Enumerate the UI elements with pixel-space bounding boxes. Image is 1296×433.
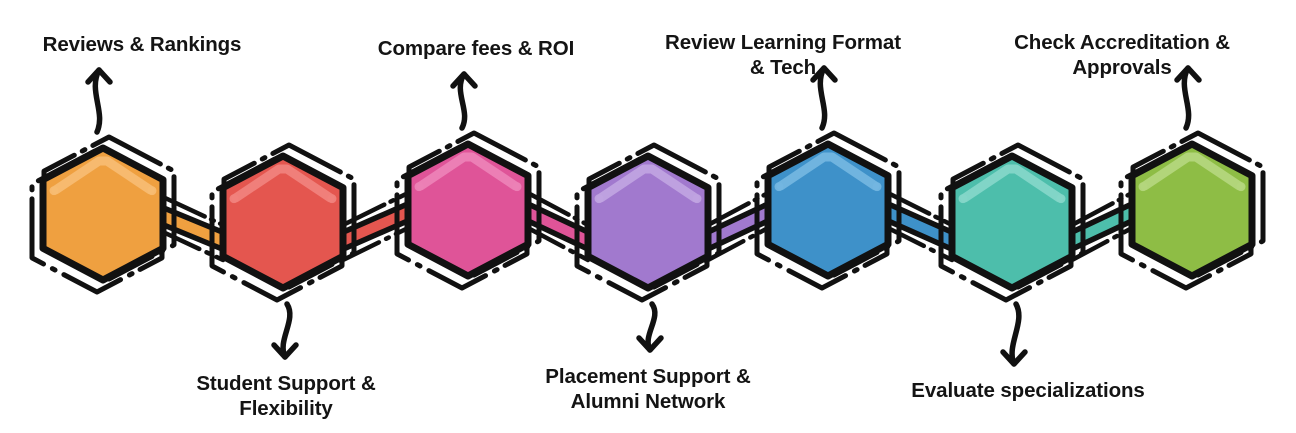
hexagons-group bbox=[32, 133, 1263, 300]
node-label-7: Check Accreditation & Approvals bbox=[922, 30, 1296, 80]
hexagon-node-4[interactable] bbox=[577, 145, 719, 300]
arrow-down-icon bbox=[639, 304, 661, 350]
connector-bar bbox=[704, 193, 772, 260]
hexagon-body bbox=[952, 156, 1072, 288]
hexagon-body bbox=[1132, 144, 1252, 276]
hexagon-node-7[interactable] bbox=[1121, 133, 1263, 288]
hexagon-node-1[interactable] bbox=[32, 137, 174, 292]
connector-bar bbox=[524, 193, 592, 260]
node-label-2: Student Support & Flexibility bbox=[86, 371, 486, 421]
arrow-down-icon bbox=[274, 304, 296, 357]
arrow-down-icon bbox=[1003, 304, 1025, 364]
hexagon-body bbox=[43, 148, 163, 280]
connector-bar bbox=[1068, 193, 1136, 260]
connector-bar bbox=[159, 197, 227, 260]
hexagon-body bbox=[223, 156, 343, 288]
hexagon-body bbox=[408, 144, 528, 276]
hexagon-body bbox=[588, 156, 708, 288]
hexagon-node-6[interactable] bbox=[941, 145, 1083, 300]
arrow-up-icon bbox=[453, 74, 475, 128]
connector-bar bbox=[339, 193, 412, 260]
arrow-up-icon bbox=[88, 70, 110, 132]
diagram-canvas: Reviews & Rankings Student Support & Fle… bbox=[0, 0, 1296, 433]
hexagon-node-3[interactable] bbox=[397, 133, 539, 288]
hexagon-body bbox=[768, 144, 888, 276]
hexagon-node-5[interactable] bbox=[757, 133, 899, 288]
node-label-4: Placement Support & Alumni Network bbox=[448, 364, 848, 414]
hexagon-node-2[interactable] bbox=[212, 145, 354, 300]
node-label-6: Evaluate specializations bbox=[828, 378, 1228, 403]
connector-bar bbox=[884, 193, 956, 260]
